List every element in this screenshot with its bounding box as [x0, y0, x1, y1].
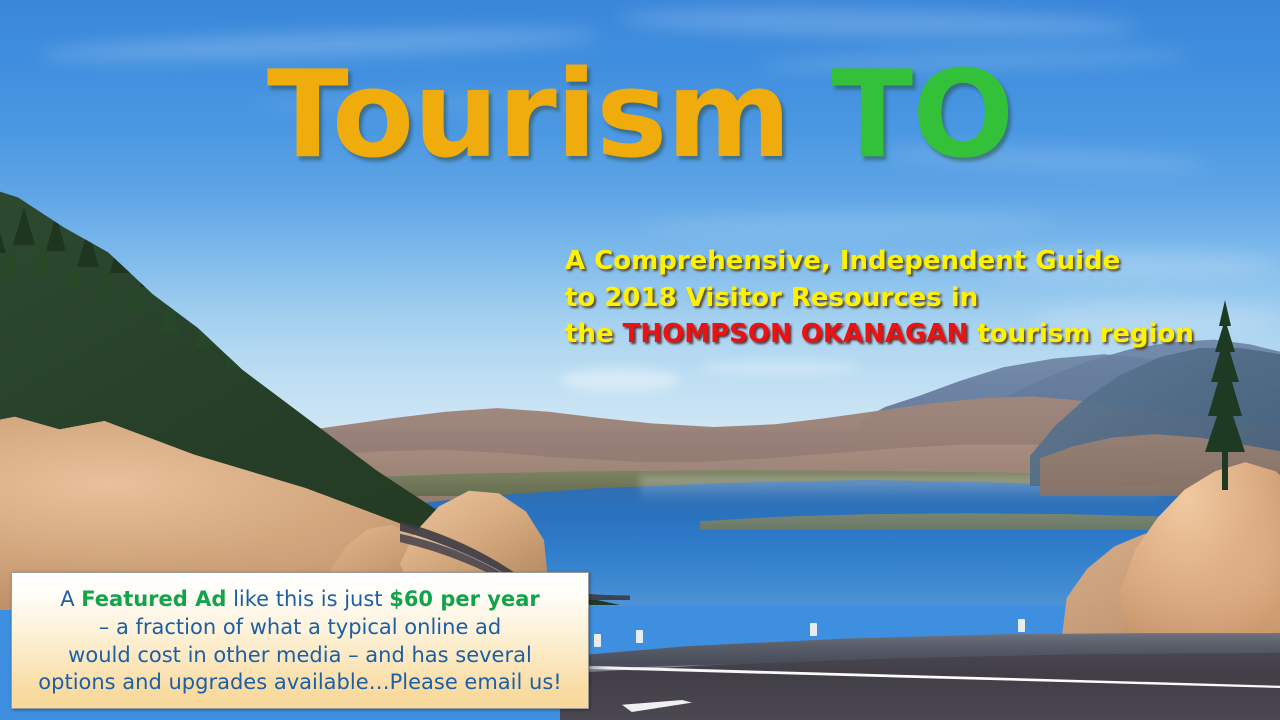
subtitle-line-3: the THOMPSON OKANAGAN tourism region — [565, 316, 1265, 353]
subtitle-region-highlight: THOMPSON OKANAGAN — [623, 319, 969, 349]
page-title-tourism: Tourism — [267, 46, 791, 185]
subtitle-line-2: to 2018 Visitor Resources in — [565, 280, 1265, 317]
page-title-to: TO — [831, 46, 1013, 185]
ad-line-4: options and upgrades available…Please em… — [38, 669, 561, 697]
cloud-puff — [560, 368, 680, 392]
page-title: Tourism TO — [0, 56, 1280, 176]
subtitle-block: A Comprehensive, Independent Guide to 20… — [565, 243, 1265, 353]
ad-featured-ad-label: Featured Ad — [81, 587, 226, 611]
ad-line-1-c: like this is just — [226, 587, 389, 611]
featured-ad-box[interactable]: A Featured Ad like this is just $60 per … — [11, 572, 589, 709]
roadside-post — [636, 630, 643, 643]
subtitle-line-3-pre: the — [565, 319, 623, 349]
cloud-puff — [700, 360, 860, 376]
ad-line-1: A Featured Ad like this is just $60 per … — [60, 586, 540, 614]
subtitle-line-3-post: tourism region — [968, 319, 1194, 349]
ad-line-1-a: A — [60, 587, 81, 611]
ad-price-label: $60 per year — [389, 587, 540, 611]
roadside-post — [810, 623, 817, 636]
roadside-post — [594, 634, 601, 647]
roadside-post — [1018, 619, 1025, 632]
subtitle-line-1: A Comprehensive, Independent Guide — [565, 243, 1265, 280]
tourism-to-hero-banner: Tourism TO A Comprehensive, Independent … — [0, 0, 1280, 720]
ad-line-2: – a fraction of what a typical online ad — [99, 614, 501, 642]
ad-line-3: would cost in other media – and has seve… — [68, 642, 532, 670]
